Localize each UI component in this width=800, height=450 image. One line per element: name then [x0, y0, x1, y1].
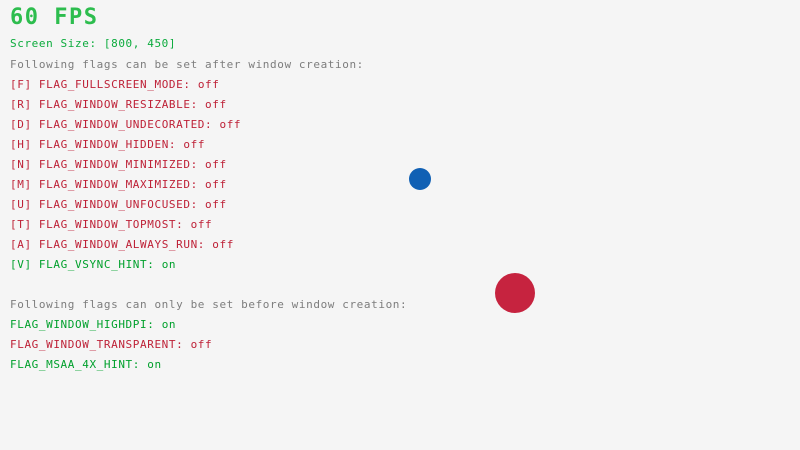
before-creation-heading: Following flags can only be set before w…: [10, 298, 407, 311]
flag-name: FLAG_WINDOW_TRANSPARENT:: [10, 338, 183, 351]
flag-row[interactable]: [H] FLAG_WINDOW_HIDDEN: off: [10, 138, 205, 151]
blue-ball: [409, 168, 431, 190]
flag-row[interactable]: [M] FLAG_WINDOW_MAXIMIZED: off: [10, 178, 227, 191]
flag-row[interactable]: [U] FLAG_WINDOW_UNFOCUSED: off: [10, 198, 227, 211]
flag-name: FLAG_WINDOW_MAXIMIZED:: [39, 178, 198, 191]
flag-state: off: [191, 338, 213, 351]
flag-row[interactable]: FLAG_WINDOW_HIGHDPI: on: [10, 318, 176, 331]
flag-key: [M]: [10, 178, 32, 191]
flag-name: FLAG_WINDOW_MINIMIZED:: [39, 158, 198, 171]
flag-state: on: [162, 258, 176, 271]
flag-row[interactable]: FLAG_MSAA_4X_HINT: on: [10, 358, 162, 371]
flag-row[interactable]: [D] FLAG_WINDOW_UNDECORATED: off: [10, 118, 241, 131]
flag-state: off: [198, 78, 220, 91]
flag-state: off: [219, 118, 241, 131]
flag-row[interactable]: [V] FLAG_VSYNC_HINT: on: [10, 258, 176, 271]
flag-state: off: [205, 198, 227, 211]
flag-name: FLAG_WINDOW_TOPMOST:: [39, 218, 183, 231]
flag-state: off: [191, 218, 213, 231]
screen-size-label: Screen Size: [800, 450]: [10, 37, 176, 50]
flag-name: FLAG_WINDOW_HIGHDPI:: [10, 318, 154, 331]
flag-state: off: [183, 138, 205, 151]
flag-key: [R]: [10, 98, 32, 111]
flag-state: off: [212, 238, 234, 251]
flag-key: [D]: [10, 118, 32, 131]
flag-key: [F]: [10, 78, 32, 91]
flag-state: off: [205, 178, 227, 191]
flag-row[interactable]: [F] FLAG_FULLSCREEN_MODE: off: [10, 78, 220, 91]
flag-row[interactable]: [A] FLAG_WINDOW_ALWAYS_RUN: off: [10, 238, 234, 251]
flag-row[interactable]: [T] FLAG_WINDOW_TOPMOST: off: [10, 218, 212, 231]
flag-key: [A]: [10, 238, 32, 251]
flag-name: FLAG_WINDOW_UNFOCUSED:: [39, 198, 198, 211]
flag-name: FLAG_WINDOW_UNDECORATED:: [39, 118, 212, 131]
flag-key: [N]: [10, 158, 32, 171]
flag-row[interactable]: FLAG_WINDOW_TRANSPARENT: off: [10, 338, 212, 351]
flag-state: on: [147, 358, 161, 371]
flag-key: [T]: [10, 218, 32, 231]
flag-row[interactable]: [R] FLAG_WINDOW_RESIZABLE: off: [10, 98, 227, 111]
red-ball: [495, 273, 535, 313]
flag-name: FLAG_MSAA_4X_HINT:: [10, 358, 140, 371]
app-window: 60 FPS Screen Size: [800, 450] Following…: [0, 0, 800, 450]
flag-state: off: [205, 98, 227, 111]
after-creation-heading: Following flags can be set after window …: [10, 58, 364, 71]
flag-row[interactable]: [N] FLAG_WINDOW_MINIMIZED: off: [10, 158, 227, 171]
flag-name: FLAG_FULLSCREEN_MODE:: [39, 78, 191, 91]
flag-key: [U]: [10, 198, 32, 211]
flag-key: [H]: [10, 138, 32, 151]
flag-state: off: [205, 158, 227, 171]
flag-name: FLAG_VSYNC_HINT:: [39, 258, 155, 271]
flag-state: on: [162, 318, 176, 331]
fps-counter: 60 FPS: [10, 6, 98, 30]
flag-key: [V]: [10, 258, 32, 271]
flag-name: FLAG_WINDOW_HIDDEN:: [39, 138, 176, 151]
flag-name: FLAG_WINDOW_RESIZABLE:: [39, 98, 198, 111]
flag-name: FLAG_WINDOW_ALWAYS_RUN:: [39, 238, 205, 251]
